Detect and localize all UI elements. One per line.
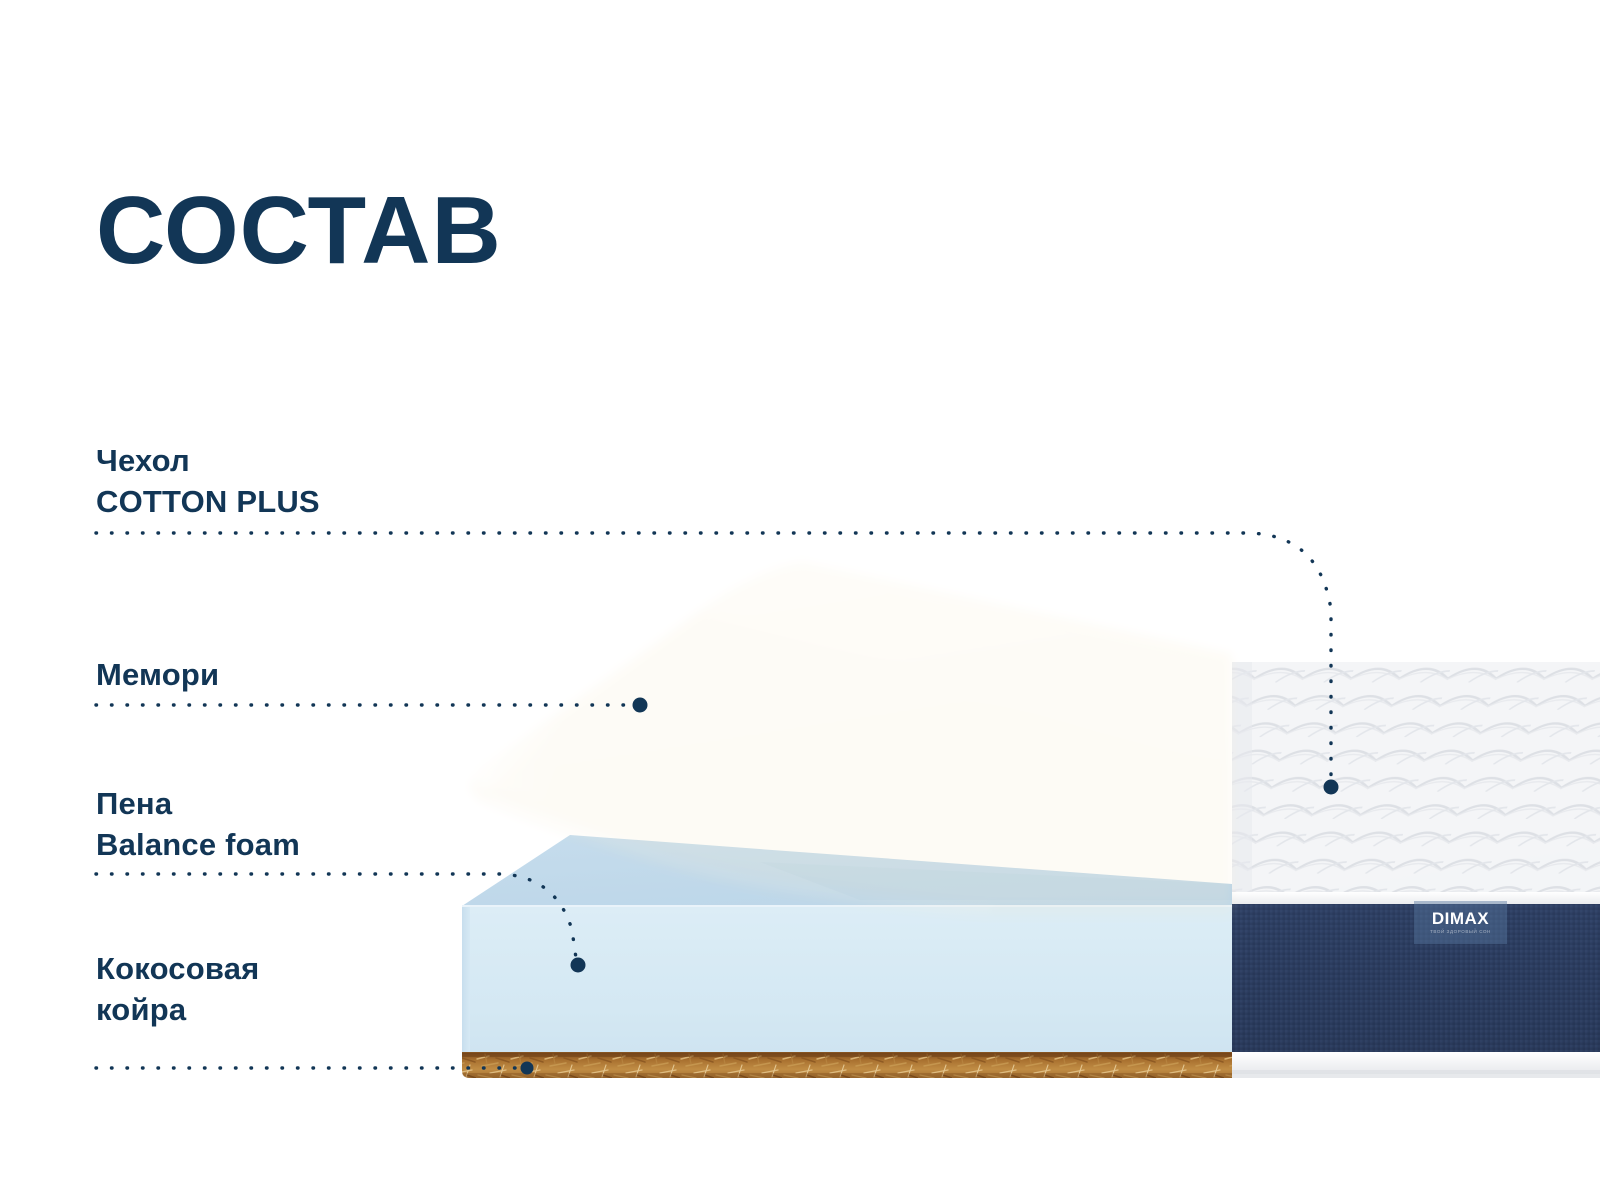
slide-canvas: СОСТАВ (0, 0, 1600, 1200)
layer-label-cover-line1: Чехол (96, 443, 190, 478)
layer-label-memory: Мемори (96, 655, 219, 696)
coir-marker-dot (521, 1062, 534, 1075)
layer-label-coir-line2: койра (96, 990, 259, 1031)
layer-label-foam: Пена Balance foam (96, 784, 300, 866)
layer-label-cover-line2: COTTON PLUS (96, 482, 320, 523)
mattress-cover-layer (1232, 662, 1600, 906)
foam-marker-dot (571, 958, 586, 973)
dimax-brand-subtitle: ТВОЙ ЗДОРОВЫЙ СОН (1430, 930, 1491, 935)
layer-label-cover: Чехол COTTON PLUS (96, 441, 320, 523)
layer-label-memory-line1: Мемори (96, 657, 219, 692)
layer-label-foam-line2: Balance foam (96, 825, 300, 866)
dimax-brand-name: DIMAX (1432, 910, 1489, 927)
cover-marker-dot (1324, 780, 1339, 795)
layer-label-coir: Кокосовая койра (96, 949, 259, 1031)
layer-label-coir-line1: Кокосовая (96, 951, 259, 986)
coir-layer (462, 1052, 1232, 1078)
layer-label-foam-line1: Пена (96, 786, 172, 821)
memory-marker-dot (633, 698, 648, 713)
dimax-brand-tag: DIMAX ТВОЙ ЗДОРОВЫЙ СОН (1414, 901, 1507, 944)
